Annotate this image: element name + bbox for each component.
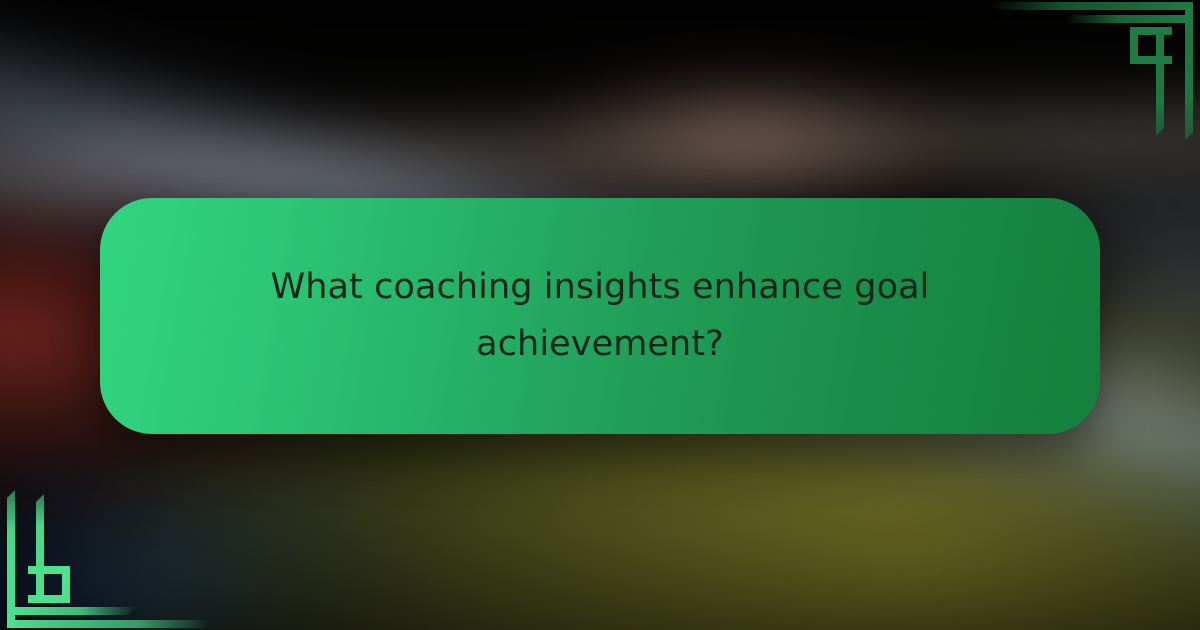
question-card[interactable]: What coaching insights enhance goal achi… (100, 198, 1100, 434)
question-text: What coaching insights enhance goal achi… (270, 259, 930, 372)
screenshot-canvas: What coaching insights enhance goal achi… (0, 0, 1200, 630)
